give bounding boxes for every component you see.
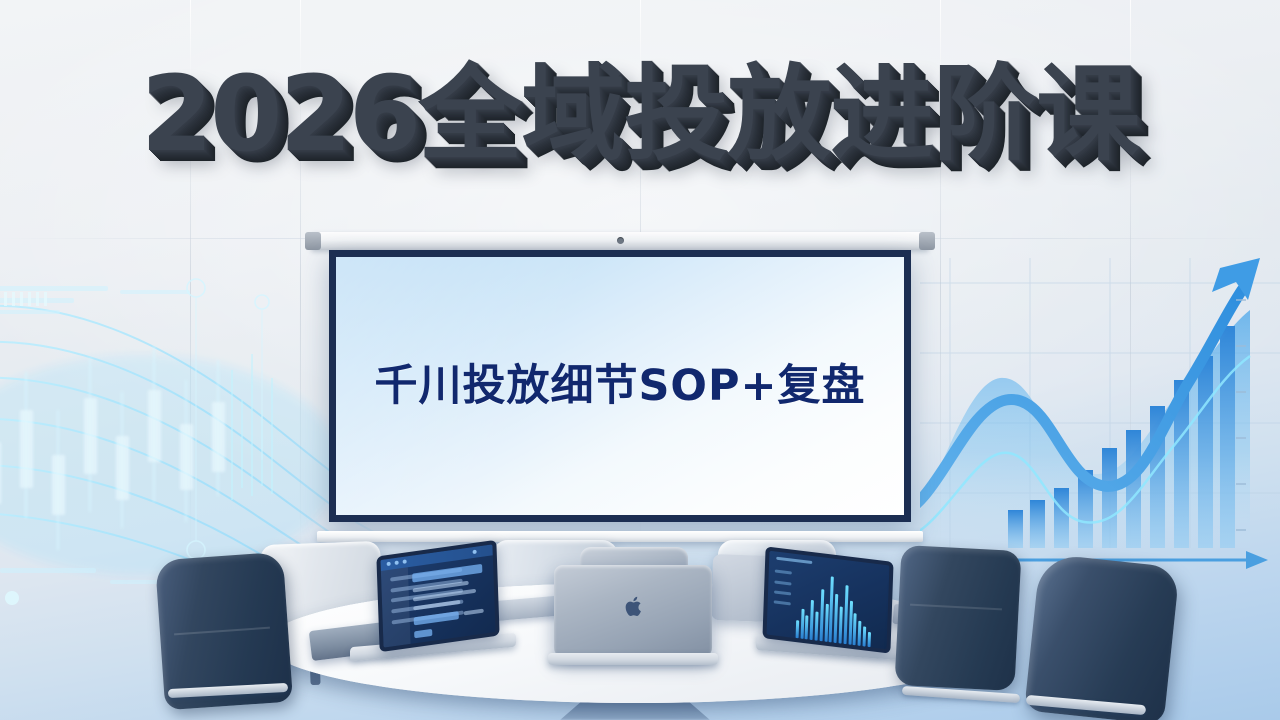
laptop-screen-chart: [767, 551, 890, 649]
screen-bracket-left: [305, 232, 321, 250]
dashboard-row: [414, 600, 461, 611]
dashboard-card: [412, 563, 482, 582]
screen-center-knob: [617, 237, 624, 244]
title-rest: 全域投放进阶课: [418, 53, 1139, 175]
laptop-left: [340, 548, 520, 668]
chair-backrest: [1024, 553, 1180, 720]
page-title: 2026全域投放进阶课: [0, 62, 1280, 166]
dashboard-row: [463, 609, 483, 616]
chair-backrest: [894, 545, 1021, 691]
chart-nav-item: [775, 570, 792, 575]
dashboard-highlight: [414, 611, 459, 625]
laptop-lid: [762, 546, 893, 653]
poster-canvas: 2026全域投放进阶课 千川投放细节SOP+复盘: [0, 0, 1280, 720]
apple-logo-icon: [623, 595, 643, 618]
chart-nav-item: [774, 580, 791, 585]
chart-nav-item: [774, 590, 791, 595]
projection-screen: 千川投放细节SOP+复盘: [305, 232, 935, 542]
screen-frame: 千川投放细节SOP+复盘: [329, 250, 911, 522]
laptop-center-macbook: [548, 547, 718, 675]
dashboard-button: [414, 628, 432, 637]
laptop-lid: [376, 540, 499, 652]
laptop-base: [548, 653, 718, 665]
chart-title-bar: [776, 557, 812, 564]
screen-bracket-right: [919, 232, 935, 250]
title-year: 2026: [141, 53, 418, 175]
screen-surface: 千川投放细节SOP+复盘: [336, 257, 904, 515]
laptop-screen-dashboard: [380, 544, 495, 647]
chart-nav-item: [774, 600, 791, 605]
chair-far-right: [1032, 560, 1182, 720]
screen-headline: 千川投放细节SOP+复盘: [374, 351, 865, 413]
